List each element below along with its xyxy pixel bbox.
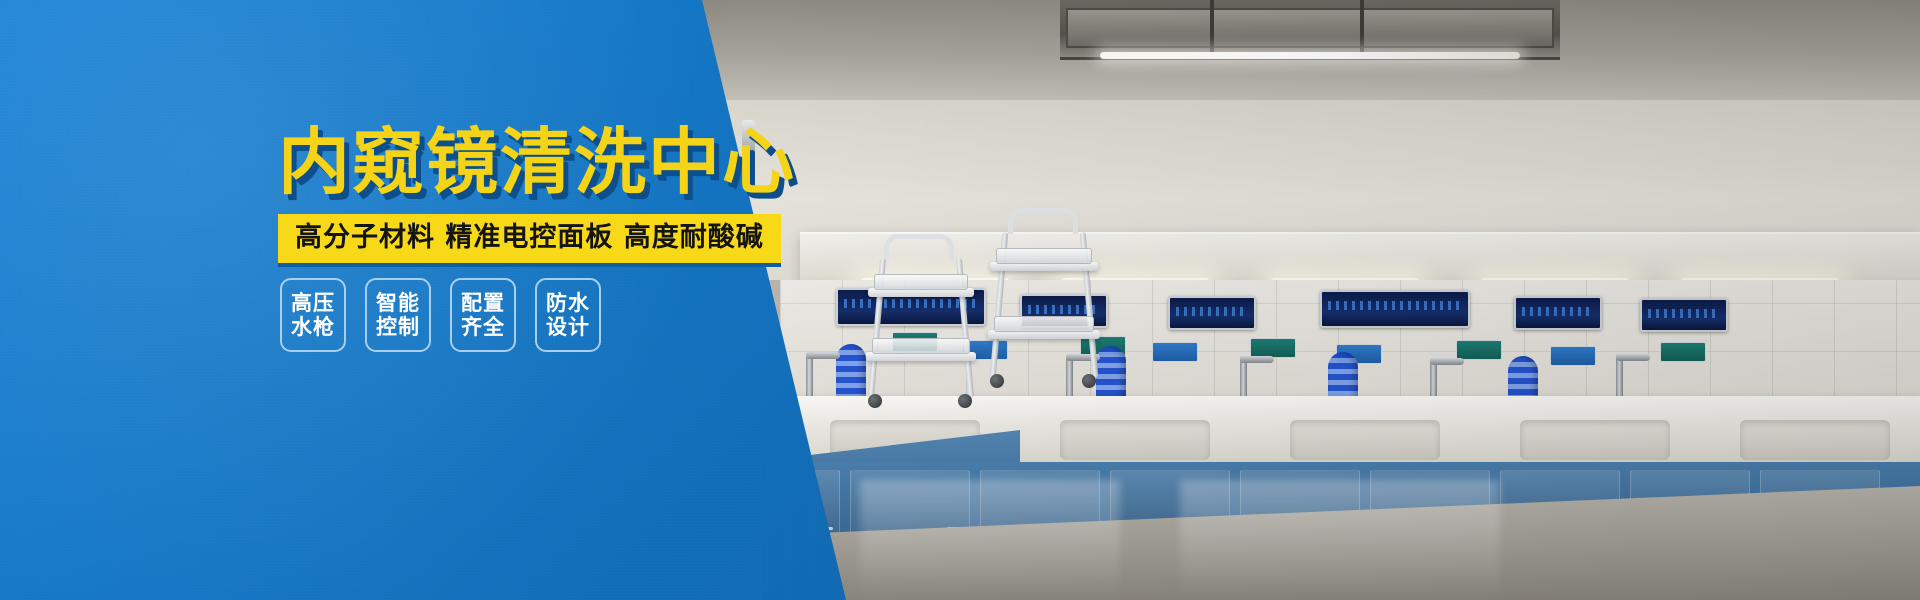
badge-full-configuration[interactable]: 配置 齐全 — [450, 278, 516, 352]
banner-content: 内窥镜清洗中心 高分子材料 精准电控面板 高度耐酸碱 高压 水枪 智能 控制 配… — [0, 0, 760, 600]
banner-title: 内窥镜清洗中心 — [278, 126, 796, 198]
badge-high-pressure-water-gun[interactable]: 高压 水枪 — [280, 278, 346, 352]
promo-banner: 内窥镜清洗中心 高分子材料 精准电控面板 高度耐酸碱 高压 水枪 智能 控制 配… — [0, 0, 1920, 600]
badge-line-1: 防水 — [546, 291, 590, 315]
badge-line-1: 高压 — [291, 291, 335, 315]
badge-line-1: 配置 — [461, 291, 505, 315]
feature-badge-list: 高压 水枪 智能 控制 配置 齐全 防水 设计 — [280, 278, 601, 352]
badge-line-2: 齐全 — [461, 315, 505, 339]
badge-line-2: 设计 — [546, 315, 590, 339]
badge-intelligent-control[interactable]: 智能 控制 — [365, 278, 431, 352]
subtitle-text: 高分子材料 精准电控面板 高度耐酸碱 — [295, 223, 764, 253]
badge-line-2: 水枪 — [291, 315, 335, 339]
badge-waterproof-design[interactable]: 防水 设计 — [535, 278, 601, 352]
subtitle-bar: 高分子材料 精准电控面板 高度耐酸碱 — [278, 214, 781, 263]
badge-line-2: 控制 — [376, 315, 420, 339]
badge-line-1: 智能 — [376, 291, 420, 315]
